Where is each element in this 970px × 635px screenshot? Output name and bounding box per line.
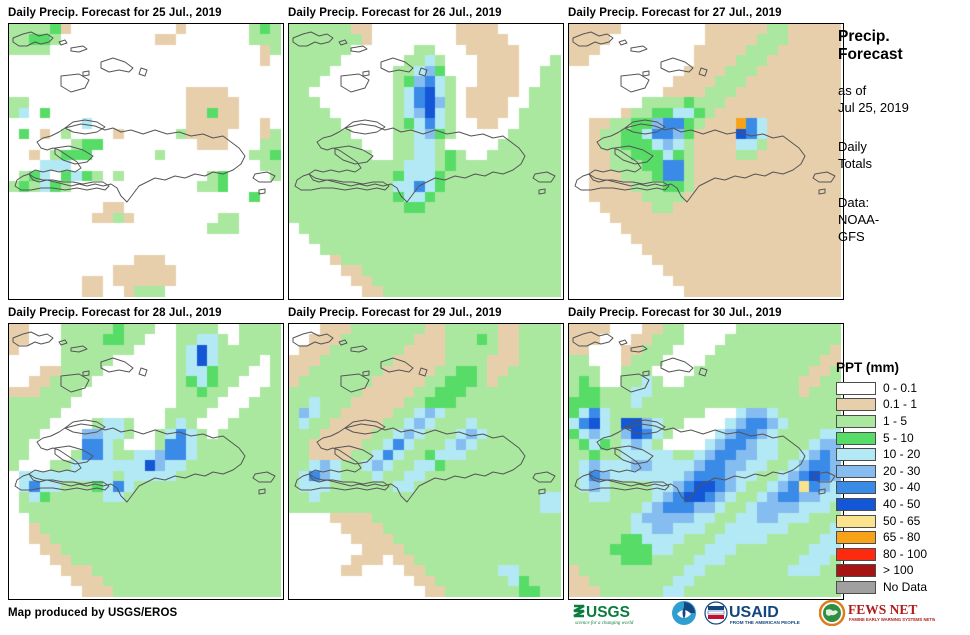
data-source-label: Data: [838, 195, 869, 210]
legend-label: 20 - 30 [883, 465, 920, 478]
panel-title: Daily Precip. Forecast for 26 Jul., 2019 [288, 6, 502, 20]
legend-label: 1 - 5 [883, 415, 907, 428]
legend-rows: 0 - 0.10.1 - 11 - 55 - 1010 - 2020 - 303… [836, 380, 968, 596]
legend-swatch [836, 432, 876, 445]
legend-row: 80 - 100 [836, 546, 968, 563]
data-source-line3: GFS [838, 229, 865, 244]
legend-label: 5 - 10 [883, 432, 914, 445]
legend-label: 50 - 65 [883, 515, 920, 528]
svg-text:USAID: USAID [729, 604, 779, 621]
noaa-logo [671, 600, 697, 626]
legend-swatch [836, 498, 876, 511]
legend-row: > 100 [836, 563, 968, 580]
partner-logos: USGS science for a changing world USAID … [572, 600, 935, 626]
precip-grid-6 [569, 324, 841, 597]
legend-label: 0 - 0.1 [883, 382, 917, 395]
forecast-panel-3: Daily Precip. Forecast for 27 Jul., 2019 [568, 6, 782, 20]
legend-label: 40 - 50 [883, 498, 920, 511]
legend-swatch [836, 398, 876, 411]
legend-swatch [836, 548, 876, 561]
as-of-block: as of Jul 25, 2019 [838, 82, 968, 116]
data-source-line2: NOAA- [838, 212, 879, 227]
legend-swatch [836, 564, 876, 577]
legend-row: 0 - 0.1 [836, 380, 968, 397]
panel-title: Daily Precip. Forecast for 27 Jul., 2019 [568, 6, 782, 20]
svg-text:FAMINE EARLY WARNING SYSTEMS N: FAMINE EARLY WARNING SYSTEMS NETWORK [849, 617, 935, 622]
map-panel-6[interactable] [568, 323, 844, 600]
map-panel-2[interactable] [288, 23, 564, 300]
as-of-date: Jul 25, 2019 [838, 100, 909, 115]
legend-row: No Data [836, 579, 968, 596]
panel-title: Daily Precip. Forecast for 30 Jul., 2019 [568, 306, 782, 320]
legend-label: > 100 [883, 564, 913, 577]
forecast-panel-6: Daily Precip. Forecast for 30 Jul., 2019 [568, 306, 782, 320]
legend-row: 50 - 65 [836, 513, 968, 530]
legend-row: 20 - 30 [836, 463, 968, 480]
map-panel-4[interactable] [8, 323, 284, 600]
forecast-panel-2: Daily Precip. Forecast for 26 Jul., 2019 [288, 6, 502, 20]
legend-swatch [836, 515, 876, 528]
map-title-line2: Forecast [838, 46, 903, 63]
legend-swatch [836, 465, 876, 478]
svg-text:FROM THE AMERICAN PEOPLE: FROM THE AMERICAN PEOPLE [730, 620, 800, 625]
legend-swatch [836, 448, 876, 461]
usgs-logo: USGS science for a changing world [572, 600, 664, 626]
legend-row: 40 - 50 [836, 496, 968, 513]
legend-label: 10 - 20 [883, 448, 920, 461]
legend-row: 5 - 10 [836, 430, 968, 447]
legend-label: 65 - 80 [883, 531, 920, 544]
map-title-line1: Precip. [838, 28, 890, 45]
legend-swatch [836, 531, 876, 544]
forecast-panel-4: Daily Precip. Forecast for 28 Jul., 2019 [8, 306, 222, 320]
forecast-panel-1: Daily Precip. Forecast for 25 Jul., 2019 [8, 6, 222, 20]
legend-row: 1 - 5 [836, 413, 968, 430]
map-panel-1[interactable] [8, 23, 284, 300]
legend-row: 10 - 20 [836, 446, 968, 463]
totals-line1: Daily [838, 139, 867, 154]
legend-swatch [836, 481, 876, 494]
panel-title: Daily Precip. Forecast for 28 Jul., 2019 [8, 306, 222, 320]
fewsnet-logo: FEWS NET FAMINE EARLY WARNING SYSTEMS NE… [819, 600, 935, 626]
legend-label: 30 - 40 [883, 481, 920, 494]
legend-swatch [836, 581, 876, 594]
map-credit: Map produced by USGS/EROS [8, 607, 177, 619]
legend-swatch [836, 415, 876, 428]
legend-title: PPT (mm) [836, 360, 968, 376]
data-source-block: Data: NOAA- GFS [838, 194, 968, 245]
legend-row: 30 - 40 [836, 480, 968, 497]
map-title: Precip. Forecast [838, 28, 968, 64]
as-of-label: as of [838, 83, 866, 98]
precip-grid-1 [9, 24, 281, 297]
svg-text:science for a changing world: science for a changing world [575, 621, 634, 626]
legend-row: 0.1 - 1 [836, 397, 968, 414]
precip-grid-3 [569, 24, 841, 297]
map-panel-5[interactable] [288, 323, 564, 600]
panel-title: Daily Precip. Forecast for 29 Jul., 2019 [288, 306, 502, 320]
legend: PPT (mm) 0 - 0.10.1 - 11 - 55 - 1010 - 2… [836, 360, 968, 596]
totals-line2: Totals [838, 156, 872, 171]
svg-text:FEWS NET: FEWS NET [848, 602, 917, 617]
svg-text:USGS: USGS [586, 604, 630, 621]
legend-row: 65 - 80 [836, 529, 968, 546]
legend-label: No Data [883, 581, 927, 594]
legend-label: 0.1 - 1 [883, 398, 917, 411]
precip-grid-2 [289, 24, 561, 297]
legend-swatch [836, 382, 876, 395]
map-info-panel: Precip. Forecast as of Jul 25, 2019 Dail… [838, 28, 968, 245]
panel-title: Daily Precip. Forecast for 25 Jul., 2019 [8, 6, 222, 20]
usaid-logo: USAID FROM THE AMERICAN PEOPLE [704, 600, 812, 626]
totals-block: Daily Totals [838, 138, 968, 172]
forecast-panel-5: Daily Precip. Forecast for 29 Jul., 2019 [288, 306, 502, 320]
precip-grid-4 [9, 324, 281, 597]
legend-label: 80 - 100 [883, 548, 927, 561]
precip-grid-5 [289, 324, 561, 597]
map-panel-3[interactable] [568, 23, 844, 300]
